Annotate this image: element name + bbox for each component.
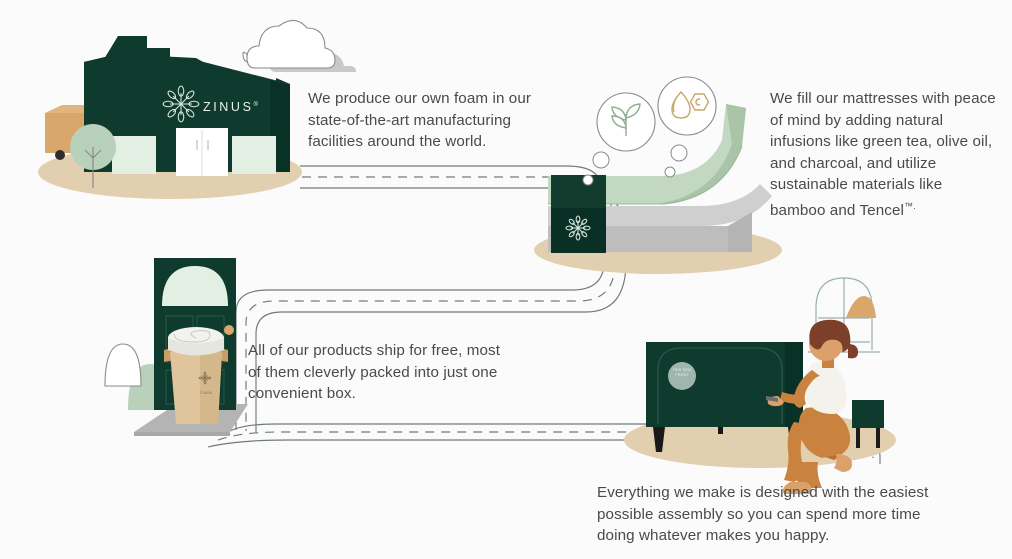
caption-assembly: Everything we make is designed with the …: [597, 482, 957, 547]
infographic-canvas: ZINUS®: [0, 0, 1012, 559]
caption-fill: We fill our mattresses with peace of min…: [770, 88, 1000, 221]
assembly-badge-label: THIS SIDE FRONT: [669, 368, 695, 377]
person-hair-bun: [848, 344, 858, 358]
scene-assembly: [0, 0, 1012, 559]
person-tank-top: [803, 362, 846, 414]
caption-foam: We produce our own foam in our state-of-…: [308, 88, 570, 153]
nightstand-leg-right: [876, 428, 880, 448]
nightstand: [852, 400, 884, 428]
caption-fill-text: We fill our mattresses with peace of min…: [770, 90, 996, 219]
nightstand-leg-left: [856, 428, 860, 448]
tencel-trademark-glyph: ™.: [904, 201, 916, 211]
bed-frame-headboard: [646, 342, 803, 427]
caption-ship: All of our products ship for free, most …: [248, 340, 504, 405]
bed-center-support: [718, 427, 723, 434]
